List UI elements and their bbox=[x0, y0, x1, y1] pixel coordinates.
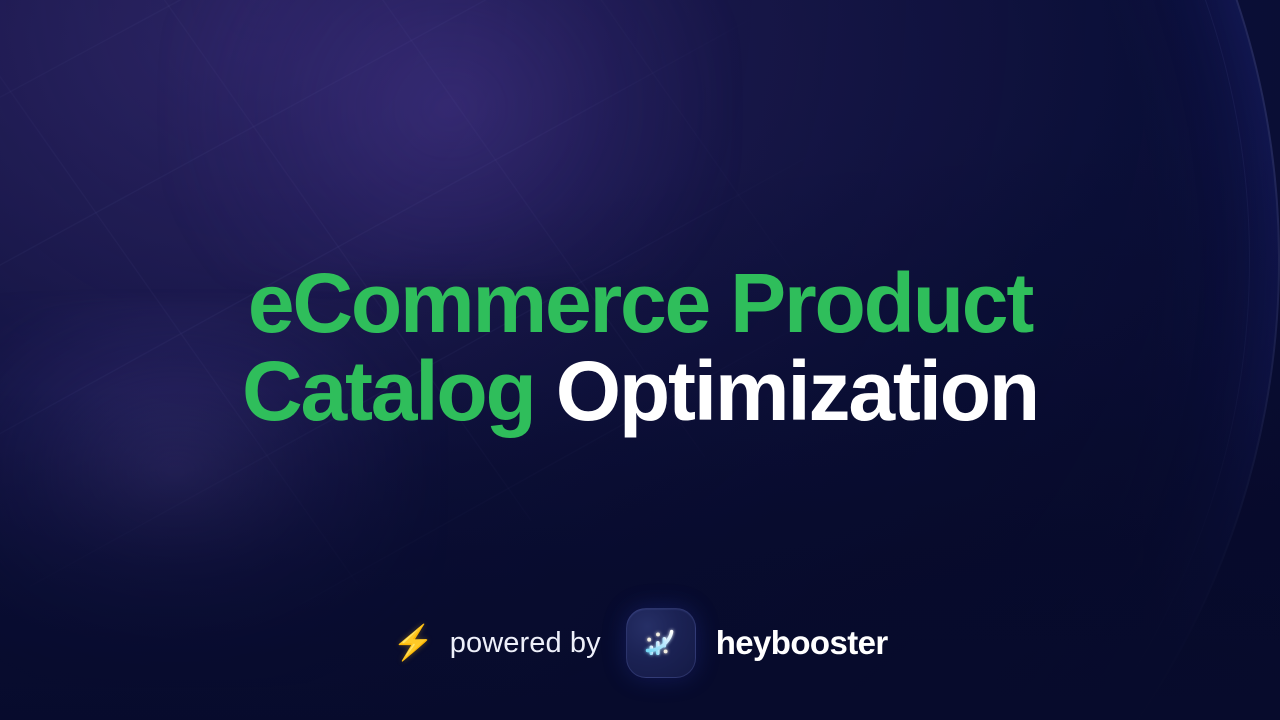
page-title: eCommerce Product Catalog Optimization bbox=[0, 261, 1280, 433]
lightning-bolt-icon: ⚡ bbox=[392, 626, 434, 660]
heybooster-logo-icon bbox=[626, 608, 696, 678]
powered-by-label: powered by bbox=[450, 627, 601, 660]
title-line-2-green: Catalog bbox=[242, 344, 535, 438]
title-line-2-white: Optimization bbox=[556, 344, 1038, 438]
slide-canvas: eCommerce Product Catalog Optimization ⚡… bbox=[0, 0, 1280, 720]
slide-content: eCommerce Product Catalog Optimization ⚡… bbox=[0, 0, 1280, 720]
powered-by-footer: ⚡ powered by bbox=[0, 608, 1280, 678]
title-line-1: eCommerce Product bbox=[0, 261, 1280, 345]
title-line-2: Catalog Optimization bbox=[0, 349, 1280, 433]
brand-name: heybooster bbox=[716, 624, 888, 662]
